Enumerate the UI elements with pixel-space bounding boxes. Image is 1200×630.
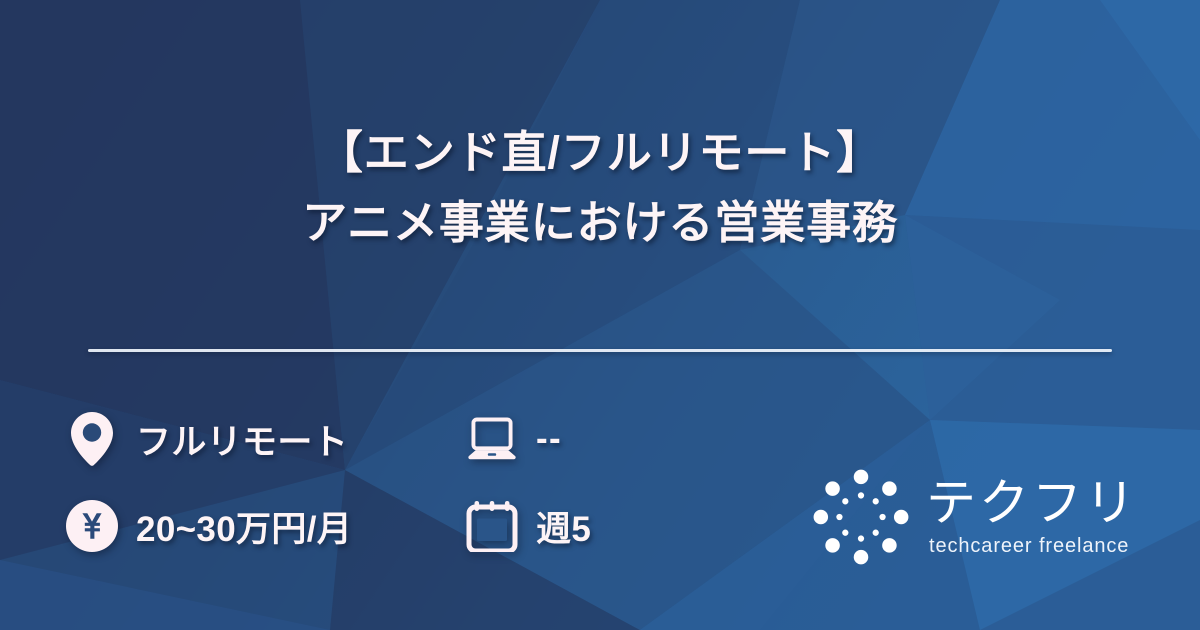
job-title: 【エンド直/フルリモート】 アニメ事業における営業事務: [0, 118, 1200, 258]
dot-ring-logo-mark: [812, 468, 910, 566]
job-title-line-1: 【エンド直/フルリモート】: [0, 118, 1200, 188]
meta-item-skills: --: [466, 411, 591, 467]
brand-name-jp: テクフリ: [926, 477, 1138, 530]
meta-value-work-location: フルリモート: [136, 414, 348, 465]
calendar-icon: [466, 498, 518, 554]
meta-item-work-days: 週5: [466, 498, 591, 554]
job-meta-grid: フルリモート -- 20~30万円/月: [66, 392, 591, 566]
brand-logo-wordmark: テクフリ techcareer freelance: [926, 477, 1138, 558]
ogp-card: 【エンド直/フルリモート】 アニメ事業における営業事務 フルリモート: [0, 0, 1200, 630]
map-pin-icon: [66, 411, 118, 467]
meta-item-work-location: フルリモート: [66, 411, 466, 467]
meta-value-monthly-rate: 20~30万円/月: [136, 501, 352, 552]
yen-circle-icon: [66, 498, 118, 554]
brand-name-en: techcareer freelance: [929, 534, 1129, 558]
meta-item-monthly-rate: 20~30万円/月: [66, 498, 466, 554]
divider: [88, 349, 1112, 352]
brand-logo: テクフリ techcareer freelance: [812, 468, 1138, 566]
job-title-line-2: アニメ事業における営業事務: [0, 188, 1200, 258]
laptop-icon: [466, 411, 518, 467]
meta-value-skills: --: [536, 419, 562, 459]
meta-value-work-days: 週5: [536, 501, 591, 552]
